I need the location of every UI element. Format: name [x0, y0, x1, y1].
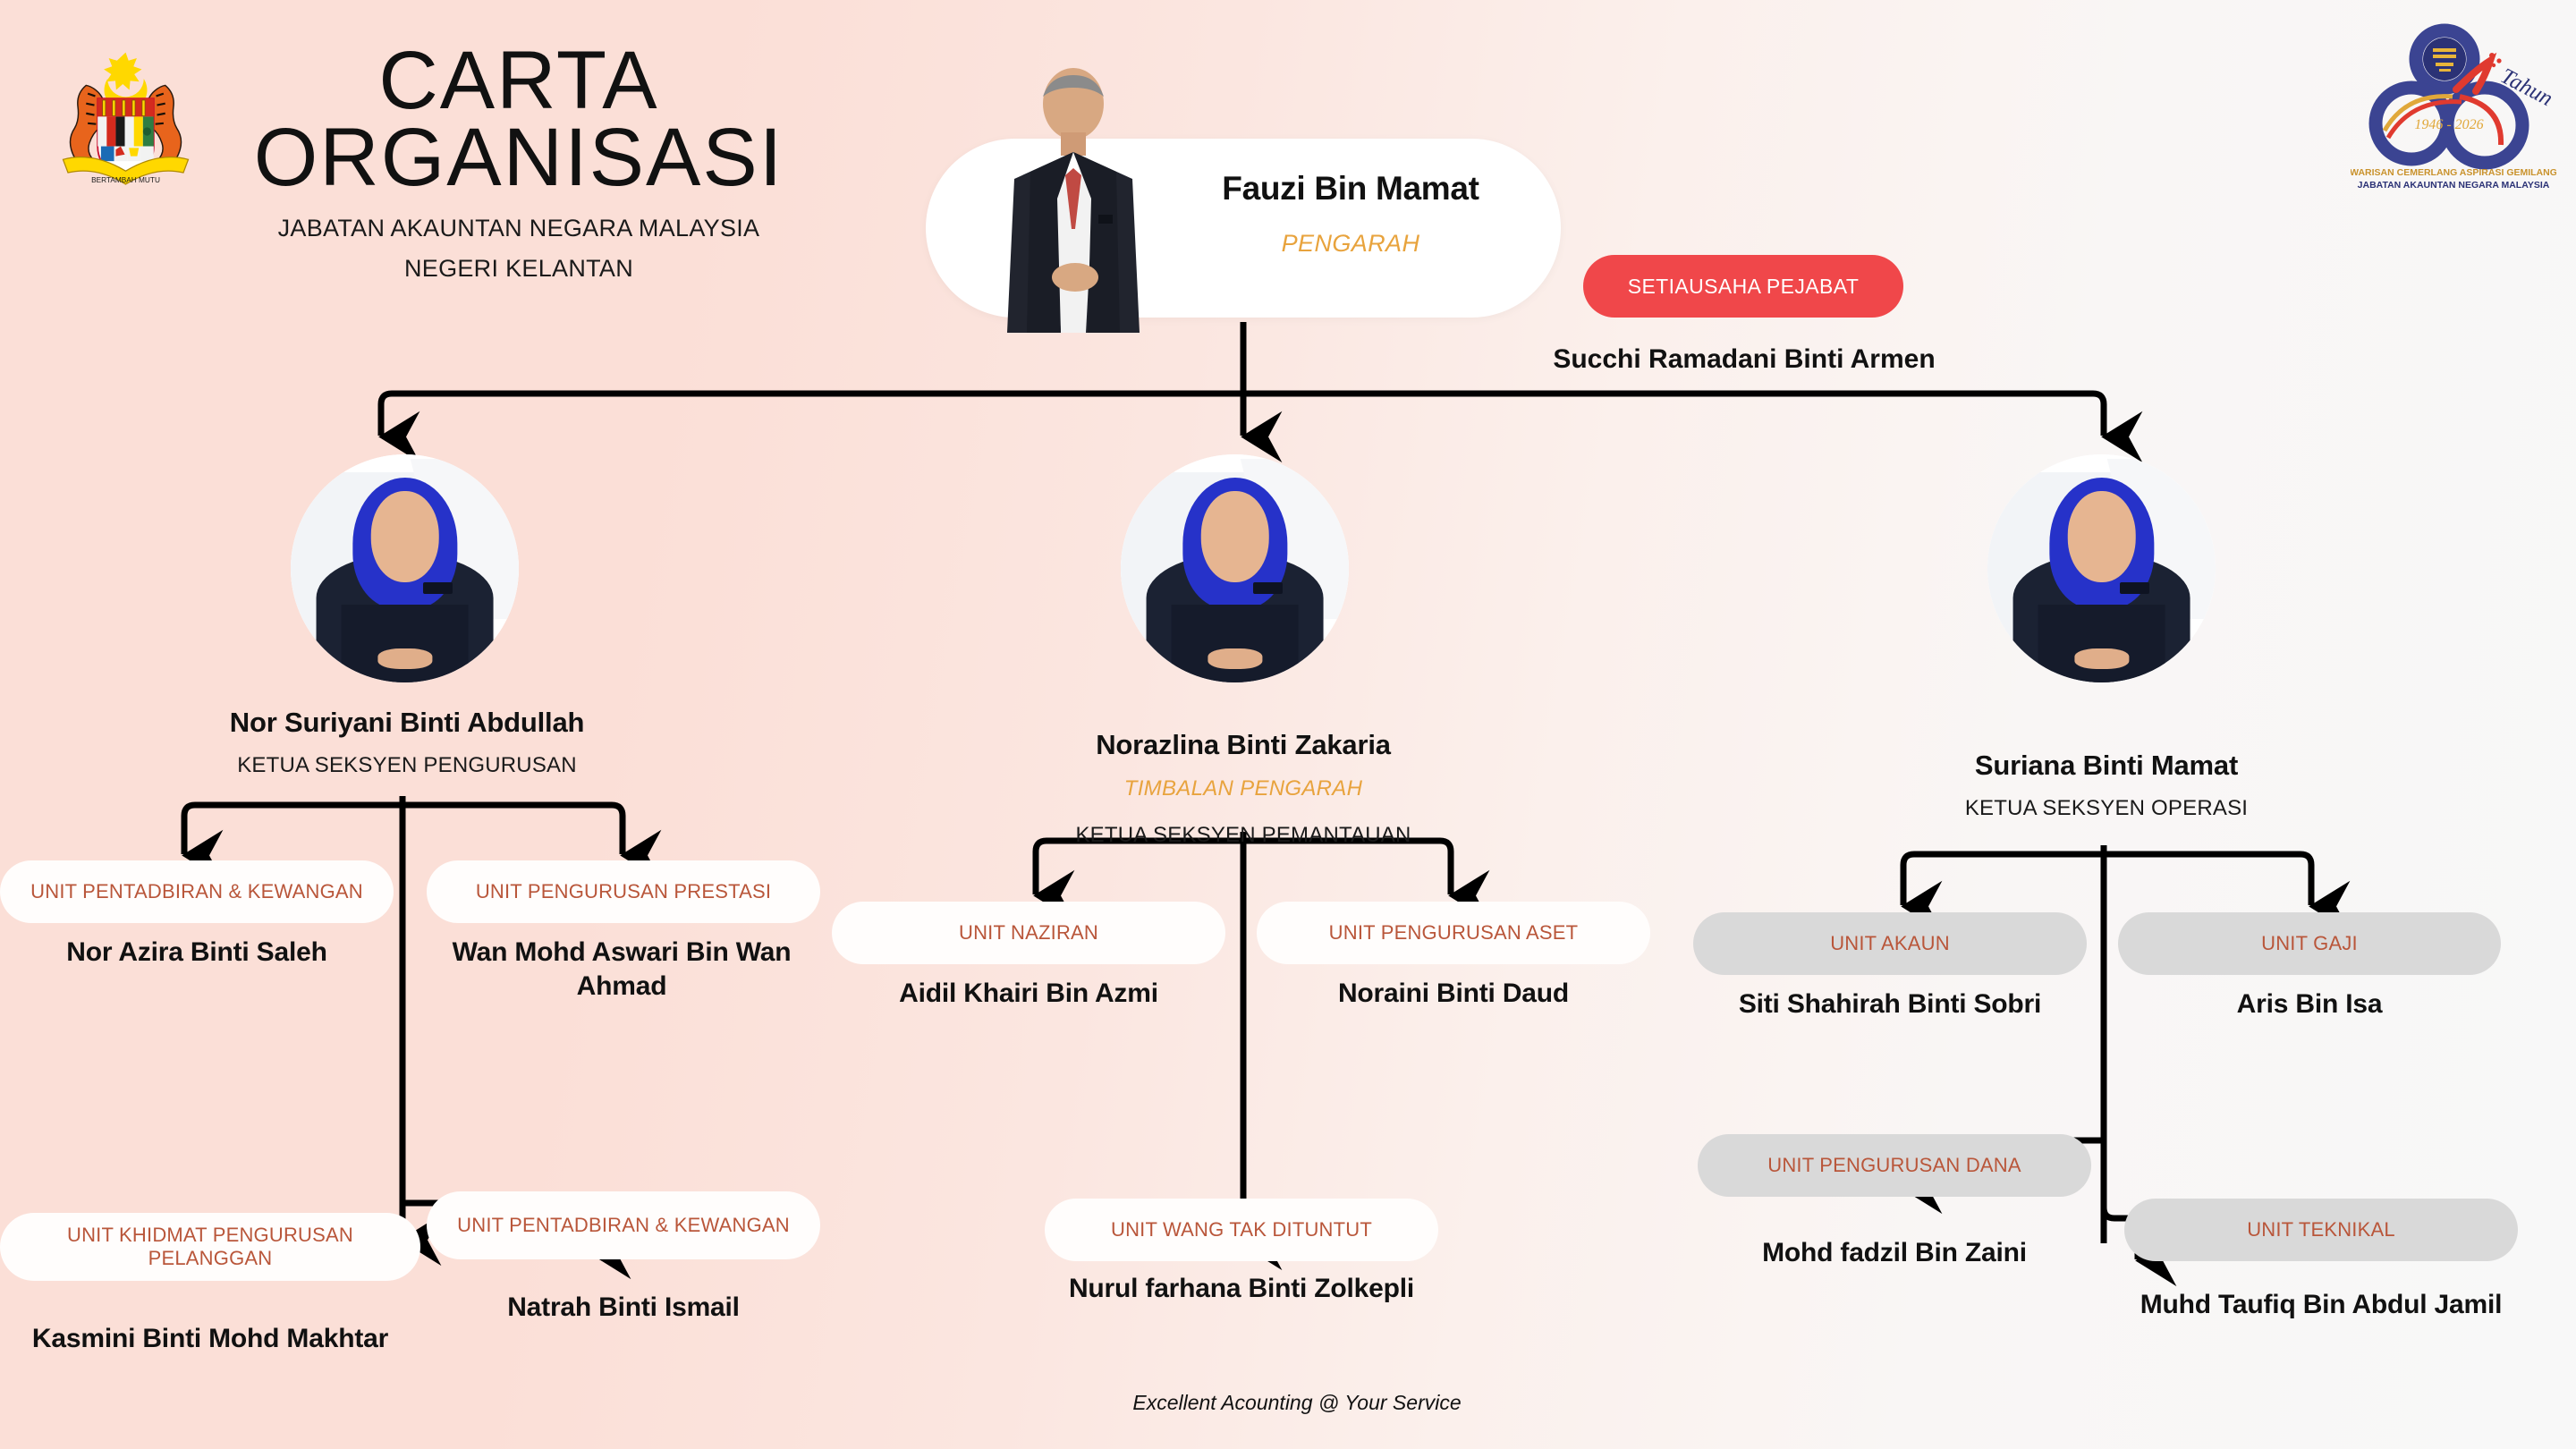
- unit-label: UNIT PENGURUSAN PRESTASI: [476, 880, 771, 903]
- page-title-line1: CARTA: [206, 43, 832, 120]
- unit-label: UNIT TEKNIKAL: [2247, 1218, 2395, 1241]
- unit-pill-wang-tak-dituntut[interactable]: UNIT WANG TAK DITUNTUT: [1045, 1199, 1438, 1261]
- anniversary-tagline: WARISAN CEMERLANG ASPIRASI GEMILANG: [2351, 167, 2556, 178]
- director-info: Fauzi Bin Mamat PENGARAH: [1163, 170, 1538, 258]
- unit-person-aris: Aris Bin Isa: [2118, 987, 2501, 1021]
- unit-person-mohd-fadzil: Mohd fadzil Bin Zaini: [1698, 1236, 2091, 1270]
- footer-tagline: Excellent Acounting @ Your Service: [984, 1391, 1610, 1415]
- unit-person-aidil-khairi: Aidil Khairi Bin Azmi: [832, 977, 1225, 1011]
- section-head-portrait-pemantauan-icon: [1121, 454, 1349, 682]
- crest-motto: BERTAMBAH MUTU: [91, 176, 160, 184]
- section-head-role-pemantauan: KETUA SEKSYEN PEMANTAUAN: [1011, 823, 1476, 848]
- unit-person-noraini: Noraini Binti Daud: [1257, 977, 1650, 1011]
- page-header: BERTAMBAH MUTU CARTA ORGANISASI JABATAN …: [27, 18, 832, 322]
- unit-label: UNIT AKAUN: [1830, 932, 1950, 955]
- secretary-name: Succhi Ramadani Binti Armen: [1467, 344, 2021, 375]
- unit-label: UNIT NAZIRAN: [959, 921, 1098, 945]
- page-title-line2: ORGANISASI: [206, 120, 832, 197]
- unit-person-nurul-farhana: Nurul farhana Binti Zolkepli: [1045, 1272, 1438, 1306]
- anniversary-years: 1946 - 2026: [2414, 117, 2483, 132]
- unit-pill-pengurusan-aset[interactable]: UNIT PENGURUSAN ASET: [1257, 902, 1650, 964]
- unit-pill-gaji[interactable]: UNIT GAJI: [2118, 912, 2501, 975]
- section-head-name-operasi: Suriana Binti Mamat: [1887, 750, 2326, 782]
- unit-label: UNIT GAJI: [2261, 932, 2358, 955]
- director-role: PENGARAH: [1163, 230, 1538, 258]
- section-head-portrait-operasi-icon: [1987, 454, 2216, 682]
- section-head-name-pengurusan: Nor Suriyani Binti Abdullah: [183, 707, 631, 739]
- unit-pill-naziran[interactable]: UNIT NAZIRAN: [832, 902, 1225, 964]
- secretary-badge-label: SETIAUSAHA PEJABAT: [1628, 275, 1860, 299]
- unit-person-muhd-taufiq: Muhd Taufiq Bin Abdul Jamil: [2124, 1288, 2518, 1322]
- unit-pill-pentadbiran-kewangan-1[interactable]: UNIT PENTADBIRAN & KEWANGAN: [0, 860, 394, 923]
- unit-person-siti-shahirah: Siti Shahirah Binti Sobri: [1693, 987, 2087, 1021]
- unit-label: UNIT PENGURUSAN ASET: [1329, 921, 1579, 945]
- section-head-name-pemantauan: Norazlina Binti Zakaria: [1011, 729, 1476, 761]
- unit-label: UNIT PENTADBIRAN & KEWANGAN: [457, 1214, 790, 1237]
- title-block: CARTA ORGANISASI JABATAN AKAUNTAN NEGARA…: [206, 43, 832, 286]
- section-head-portrait-pengurusan-icon: [291, 454, 519, 682]
- unit-pill-akaun[interactable]: UNIT AKAUN: [1693, 912, 2087, 975]
- director-portrait-icon: [975, 64, 1172, 333]
- unit-pill-pentadbiran-kewangan-2[interactable]: UNIT PENTADBIRAN & KEWANGAN: [427, 1191, 820, 1259]
- section-head-role-italic-pemantauan: TIMBALAN PENGARAH: [1011, 776, 1476, 801]
- secretary-badge: SETIAUSAHA PEJABAT: [1583, 255, 1903, 318]
- anniversary-word: Tahun: [2496, 64, 2556, 111]
- unit-pill-khidmat-pengurusan-pelanggan[interactable]: UNIT KHIDMAT PENGURUSAN PELANGGAN: [0, 1213, 420, 1281]
- unit-person-wan-mohd-aswari: Wan Mohd Aswari Bin Wan Ahmad: [407, 936, 836, 1003]
- unit-pill-teknikal[interactable]: UNIT TEKNIKAL: [2124, 1199, 2518, 1261]
- unit-person-kasmini: Kasmini Binti Mohd Makhtar: [0, 1322, 420, 1356]
- anniversary-department: JABATAN AKAUNTAN NEGARA MALAYSIA: [2358, 180, 2550, 191]
- unit-person-natrah: Natrah Binti Ismail: [427, 1291, 820, 1325]
- unit-person-nor-azira: Nor Azira Binti Saleh: [0, 936, 394, 970]
- section-head-role-pengurusan: KETUA SEKSYEN PENGURUSAN: [183, 753, 631, 778]
- page-subtitle-line2: NEGERI KELANTAN: [206, 250, 832, 287]
- malaysia-coat-of-arms-icon: BERTAMBAH MUTU: [43, 38, 208, 194]
- unit-label: UNIT PENGURUSAN DANA: [1767, 1154, 2021, 1177]
- director-name: Fauzi Bin Mamat: [1163, 170, 1538, 208]
- unit-pill-pengurusan-dana[interactable]: UNIT PENGURUSAN DANA: [1698, 1134, 2091, 1197]
- 80th-anniversary-logo-icon: Tahun 1946 - 2026 WARISAN CEMERLANG ASPI…: [2351, 16, 2556, 195]
- unit-label: UNIT KHIDMAT PENGURUSAN PELANGGAN: [14, 1224, 406, 1270]
- unit-pill-pengurusan-prestasi[interactable]: UNIT PENGURUSAN PRESTASI: [427, 860, 820, 923]
- page-subtitle-line1: JABATAN AKAUNTAN NEGARA MALAYSIA: [206, 210, 832, 247]
- unit-label: UNIT WANG TAK DITUNTUT: [1111, 1218, 1372, 1241]
- unit-label: UNIT PENTADBIRAN & KEWANGAN: [30, 880, 363, 903]
- org-chart-canvas: BERTAMBAH MUTU CARTA ORGANISASI JABATAN …: [0, 0, 2576, 1449]
- section-head-role-operasi: KETUA SEKSYEN OPERASI: [1887, 796, 2326, 821]
